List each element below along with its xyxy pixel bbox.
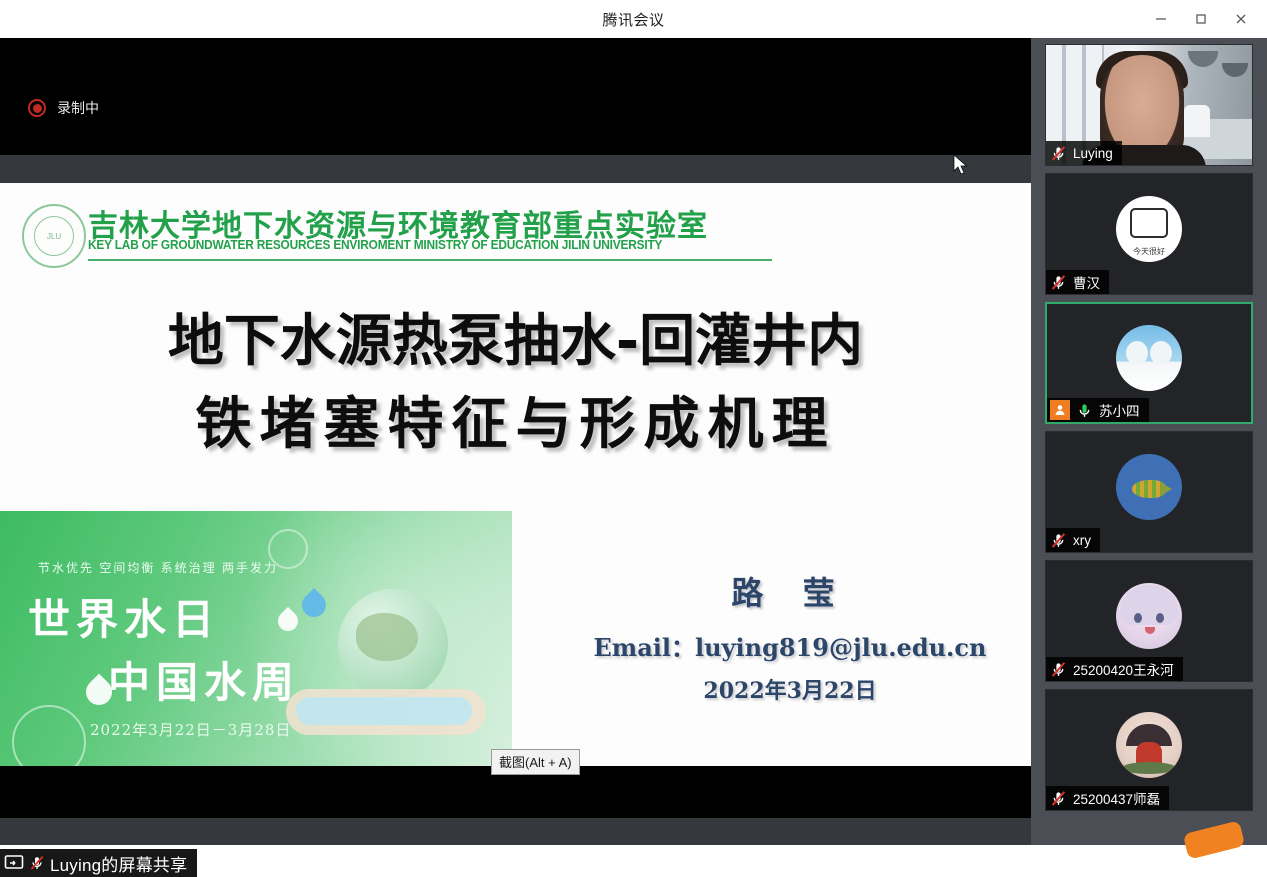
avatar-tree (1126, 341, 1148, 365)
mic-muted-icon (1049, 273, 1068, 292)
toolbar-accent-shape[interactable] (1183, 820, 1246, 859)
avatar-eye-left (1134, 613, 1142, 623)
avatar-face-icon (1130, 208, 1168, 238)
host-badge (1050, 400, 1070, 420)
participant-tile-caohan[interactable]: 今天很好 曹汉 (1045, 173, 1253, 295)
presentation-slide: JLU 吉林大学地下水资源与环境教育部重点实验室 KEY LAB OF GROU… (0, 183, 1031, 766)
shared-screen-footer (0, 818, 1031, 845)
seal-inner: JLU (34, 216, 74, 256)
maximize-button[interactable] (1181, 0, 1221, 38)
window-title-bar: 腾讯会议 (0, 0, 1267, 38)
minimize-icon (1154, 12, 1168, 26)
recording-indicator: 录制中 (28, 98, 99, 118)
screen-share-label: Luying的屏幕共享 (0, 849, 197, 877)
avatar-eye-right (1156, 613, 1164, 623)
poster-ring-decoration (12, 705, 86, 766)
minimize-button[interactable] (1141, 0, 1181, 38)
poster-dates: 2022年3月22日－3月28日 (90, 719, 291, 740)
shared-screen-area: 录制中 JLU 吉林大学地下水资源与环境教育部重点实验室 KEY LAB OF … (0, 38, 1031, 845)
maximize-icon (1194, 12, 1208, 26)
participant-name: xry (1073, 533, 1091, 548)
participant-tile-wangyonghe[interactable]: 25200420王永河 (1045, 560, 1253, 682)
participant-name: 苏小四 (1099, 400, 1140, 420)
avatar (1116, 454, 1182, 520)
participant-name-badge: xry (1046, 528, 1100, 552)
avatar-hair (1120, 585, 1178, 625)
lab-title-english: KEY LAB OF GROUNDWATER RESOURCES ENVIROM… (88, 238, 662, 252)
shared-screen-letterbox-top (0, 38, 1031, 155)
avatar-tree-2 (1150, 341, 1172, 365)
page-title: 腾讯会议 (602, 9, 664, 30)
avatar (1116, 325, 1182, 391)
poster-headline-2: 中国水周 (108, 649, 300, 710)
screen-share-icon (4, 854, 24, 872)
participant-name: 25200437师磊 (1073, 788, 1160, 808)
mic-muted-icon (28, 854, 46, 872)
close-icon (1234, 12, 1248, 26)
poster-headline-1: 世界水日 (28, 586, 220, 647)
avatar-fish-fin (1160, 482, 1172, 496)
poster-slogan: 节水优先 空间均衡 系统治理 两手发力 (38, 559, 278, 576)
feed-lamp-2 (1222, 63, 1248, 77)
slide-lab-header: JLU 吉林大学地下水资源与环境教育部重点实验室 KEY LAB OF GROU… (0, 198, 1031, 280)
avatar-grass (1122, 762, 1176, 774)
slide-title-line-1: 地下水源热泵抽水-回灌井内 (0, 301, 1031, 384)
avatar: 今天很好 (1116, 196, 1182, 262)
water-drop-icon (274, 607, 302, 635)
participant-tile-suxiaosi[interactable]: 苏小四 (1045, 302, 1253, 424)
participant-name: 25200420王永河 (1073, 659, 1174, 679)
presenter-email: Email：luying819@jlu.edu.cn (590, 628, 990, 663)
recording-label: 录制中 (57, 98, 99, 118)
participant-name-badge: 苏小四 (1047, 398, 1149, 422)
slide-title-line-2: 铁堵塞特征与形成机理 (0, 384, 1031, 467)
mic-unmuted-icon (1075, 401, 1094, 420)
participant-name: 曹汉 (1073, 272, 1100, 292)
mic-muted-icon (1049, 789, 1068, 808)
mic-muted-icon (1049, 144, 1068, 163)
presenter-date: 2022年3月22日 (590, 673, 990, 705)
jilin-university-seal-icon: JLU (22, 204, 86, 268)
participant-panel[interactable]: Luying 今天很好 曹汉 (1031, 38, 1267, 845)
slide-main-title: 地下水源热泵抽水-回灌井内 铁堵塞特征与形成机理 (0, 301, 1031, 467)
participant-name-badge: 曹汉 (1046, 270, 1109, 294)
mic-muted-icon (1049, 531, 1068, 550)
presenter-name: 路 莹 (590, 568, 990, 614)
window-controls (1141, 0, 1261, 38)
avatar-mouth (1145, 627, 1155, 634)
participant-name: Luying (1073, 146, 1113, 161)
avatar-caption: 今天很好 (1116, 246, 1182, 257)
avatar (1116, 712, 1182, 778)
person-icon (1054, 404, 1066, 416)
participant-tile-luying[interactable]: Luying (1045, 44, 1253, 166)
presenter-info: 路 莹 Email：luying819@jlu.edu.cn 2022年3月22… (590, 568, 990, 705)
participant-name-badge: 25200420王永河 (1046, 657, 1183, 681)
meeting-body: 录制中 JLU 吉林大学地下水资源与环境教育部重点实验室 KEY LAB OF … (0, 38, 1267, 845)
mic-muted-icon (1049, 660, 1068, 679)
lab-header-divider (88, 259, 772, 261)
screenshot-tooltip: 截图(Alt + A) (491, 749, 580, 775)
participant-name-badge: 25200437师磊 (1046, 786, 1169, 810)
screen-share-label-text: Luying的屏幕共享 (50, 851, 187, 876)
close-button[interactable] (1221, 0, 1261, 38)
avatar (1116, 583, 1182, 649)
record-icon (28, 99, 46, 117)
water-basin-shape (296, 697, 472, 725)
participant-tile-xry[interactable]: xry (1045, 431, 1253, 553)
participant-name-badge: Luying (1046, 141, 1122, 165)
globe-icon (338, 589, 448, 699)
mouse-cursor-icon (953, 154, 969, 176)
participant-tile-shilei[interactable]: 25200437师磊 (1045, 689, 1253, 811)
world-water-day-poster: 节水优先 空间均衡 系统治理 两手发力 世界水日 中国水周 2022年3月22日… (0, 511, 512, 766)
feed-chair (1184, 105, 1210, 137)
water-drop-blue-icon (297, 588, 331, 622)
feed-lamp (1188, 51, 1218, 67)
